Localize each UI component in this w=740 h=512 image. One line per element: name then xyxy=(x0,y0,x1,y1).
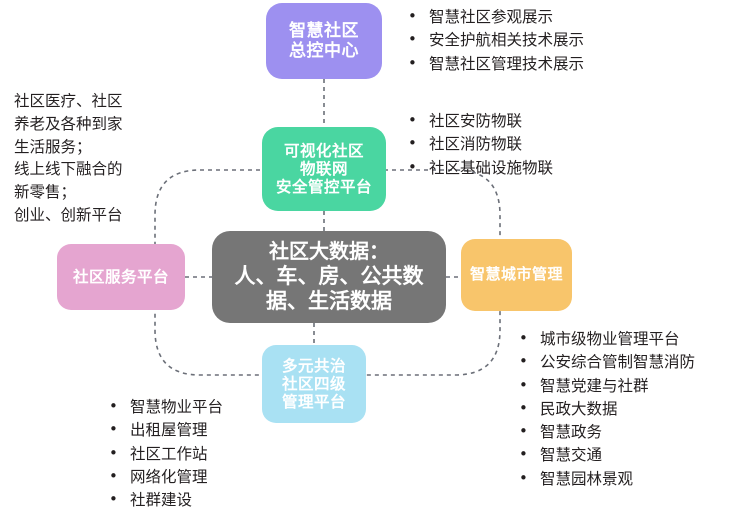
node-line: 社区大数据： xyxy=(212,240,446,264)
list-item: 社区基础设施物联 xyxy=(405,157,553,180)
node-community-service-platform[interactable]: 社区服务平台 xyxy=(57,244,185,310)
node-community-big-data[interactable]: 社区大数据： 人、车、房、公共数 据、生活数据 xyxy=(212,231,446,323)
annotation-line: 生活服务； xyxy=(14,136,123,159)
annotation-line: 线上线下融合的 xyxy=(14,158,123,181)
annotation-service-platform-description: 社区医疗、社区 养老及各种到家 生活服务； 线上线下融合的 新零售； 创业、创新… xyxy=(14,90,123,227)
node-line: 总控中心 xyxy=(266,41,382,61)
annotation-line: 创业、创新平台 xyxy=(14,204,123,227)
list-item: 网络化管理 xyxy=(106,466,223,489)
list-item: 安全护航相关技术展示 xyxy=(405,29,584,52)
list-item: 社群建设 xyxy=(106,489,223,512)
list-item: 社区消防物联 xyxy=(405,133,553,156)
list-item: 智慧物业平台 xyxy=(106,396,223,419)
node-line: 物联网 xyxy=(262,160,386,178)
list-item: 出租屋管理 xyxy=(106,419,223,442)
bullet-list-city-management: 城市级物业管理平台 公安综合管制智慧消防 智慧党建与社群 民政大数据 智慧政务 … xyxy=(516,328,695,491)
list-item: 智慧政务 xyxy=(516,421,695,444)
node-smart-community-control-center[interactable]: 智慧社区 总控中心 xyxy=(266,3,382,79)
list-item: 智慧社区参观展示 xyxy=(405,6,584,29)
node-line: 社区四级 xyxy=(262,375,366,393)
list-item: 智慧交通 xyxy=(516,444,695,467)
annotation-line: 养老及各种到家 xyxy=(14,113,123,136)
list-item: 智慧园林景观 xyxy=(516,468,695,491)
list-item: 公安综合管制智慧消防 xyxy=(516,351,695,374)
diagram-canvas: 智慧社区 总控中心 可视化社区 物联网 安全管控平台 社区大数据： 人、车、房、… xyxy=(0,0,740,512)
node-smart-city-management[interactable]: 智慧城市管理 xyxy=(461,239,572,311)
node-line: 智慧城市管理 xyxy=(461,266,572,284)
annotation-line: 社区医疗、社区 xyxy=(14,90,123,113)
list-item: 智慧社区管理技术展示 xyxy=(405,53,584,76)
bullet-list-governance: 智慧物业平台 出租屋管理 社区工作站 网络化管理 社群建设 xyxy=(106,396,223,512)
node-line: 多元共治 xyxy=(262,357,366,375)
node-line: 据、生活数据 xyxy=(212,289,446,314)
bullet-list-iot-platform: 社区安防物联 社区消防物联 社区基础设施物联 xyxy=(405,110,553,180)
node-line: 管理平台 xyxy=(262,393,366,411)
list-item: 社区安防物联 xyxy=(405,110,553,133)
node-line: 智慧社区 xyxy=(266,21,382,41)
node-line: 可视化社区 xyxy=(262,142,386,160)
node-line: 社区服务平台 xyxy=(57,268,185,286)
node-line: 人、车、房、公共数 xyxy=(212,264,446,289)
list-item: 社区工作站 xyxy=(106,443,223,466)
list-item: 城市级物业管理平台 xyxy=(516,328,695,351)
bullet-list-control-center: 智慧社区参观展示 安全护航相关技术展示 智慧社区管理技术展示 xyxy=(405,6,584,76)
list-item: 民政大数据 xyxy=(516,398,695,421)
list-item: 智慧党建与社群 xyxy=(516,375,695,398)
node-multi-governance-four-level-platform[interactable]: 多元共治 社区四级 管理平台 xyxy=(262,345,366,423)
annotation-line: 新零售； xyxy=(14,181,123,204)
node-line: 安全管控平台 xyxy=(262,178,386,196)
node-visual-community-iot-security-platform[interactable]: 可视化社区 物联网 安全管控平台 xyxy=(262,127,386,211)
